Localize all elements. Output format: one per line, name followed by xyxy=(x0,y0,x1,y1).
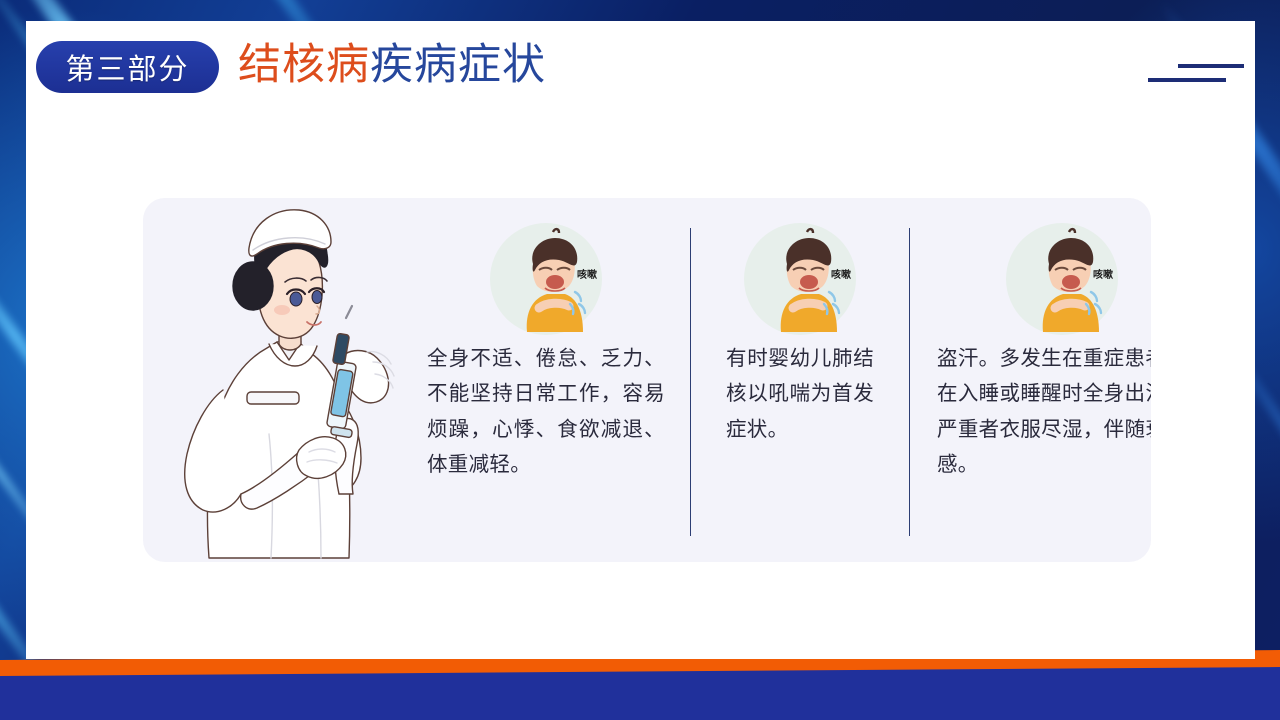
slide-canvas: 第三部分 结核病疾病症状 xyxy=(0,0,1280,720)
column-gap xyxy=(691,198,704,562)
symptom-text: 全身不适、倦怠、乏力、不能坚持日常工作，容易烦躁，心悸、食欲减退、体重减轻。 xyxy=(427,342,665,483)
cough-label: 咳嗽 xyxy=(1093,268,1113,281)
cough-label: 咳嗽 xyxy=(831,268,851,281)
coughing-child-icon: 咳嗽 xyxy=(487,220,605,338)
symptoms-card: 咳嗽 全身不适、倦怠、乏力、不能坚持日常工作，容易烦躁，心悸、食欲减退、体重减轻… xyxy=(143,198,1151,562)
dash-top-icon xyxy=(1178,64,1244,68)
slide-header: 第三部分 结核病疾病症状 xyxy=(36,41,546,93)
section-badge: 第三部分 xyxy=(36,41,219,93)
symptom-text: 盗汗。多发生在重症患者，在入睡或睡醒时全身出汗，严重者衣服尽湿，伴随衰竭感。 xyxy=(937,342,1151,483)
coughing-child-icon: 咳嗽 xyxy=(1003,220,1121,338)
coughing-child-illustration: 咳嗽 xyxy=(1003,216,1121,342)
symptom-text: 有时婴幼儿肺结核以吼喘为首发症状。 xyxy=(726,342,874,448)
section-badge-label: 第三部分 xyxy=(65,46,189,88)
column-gap xyxy=(910,198,923,562)
page-title-accent: 结核病 xyxy=(238,42,370,89)
header-dash-decoration xyxy=(1148,58,1244,88)
coughing-child-illustration: 咳嗽 xyxy=(487,216,605,342)
coughing-child-icon: 咳嗽 xyxy=(741,220,859,338)
column-gap xyxy=(896,198,909,562)
nurse-illustration xyxy=(143,198,415,562)
coughing-child-illustration: 咳嗽 xyxy=(741,216,859,342)
symptom-column: 咳嗽 有时婴幼儿肺结核以吼喘为首发症状。 xyxy=(704,198,896,562)
symptom-columns: 咳嗽 全身不适、倦怠、乏力、不能坚持日常工作，容易烦躁，心悸、食欲减退、体重减轻… xyxy=(415,198,1151,562)
cough-label: 咳嗽 xyxy=(577,268,597,281)
symptom-column: 咳嗽 全身不适、倦怠、乏力、不能坚持日常工作，容易烦躁，心悸、食欲减退、体重减轻… xyxy=(415,198,677,562)
symptom-column: 咳嗽 盗汗。多发生在重症患者，在入睡或睡醒时全身出汗，严重者衣服尽湿，伴随衰竭感… xyxy=(923,198,1151,562)
column-gap xyxy=(677,198,690,562)
page-title: 结核病疾病症状 xyxy=(238,44,546,91)
dash-bottom-icon xyxy=(1148,78,1226,82)
nurse-holding-syringe-icon xyxy=(149,202,417,560)
page-title-main: 疾病症状 xyxy=(370,42,546,89)
